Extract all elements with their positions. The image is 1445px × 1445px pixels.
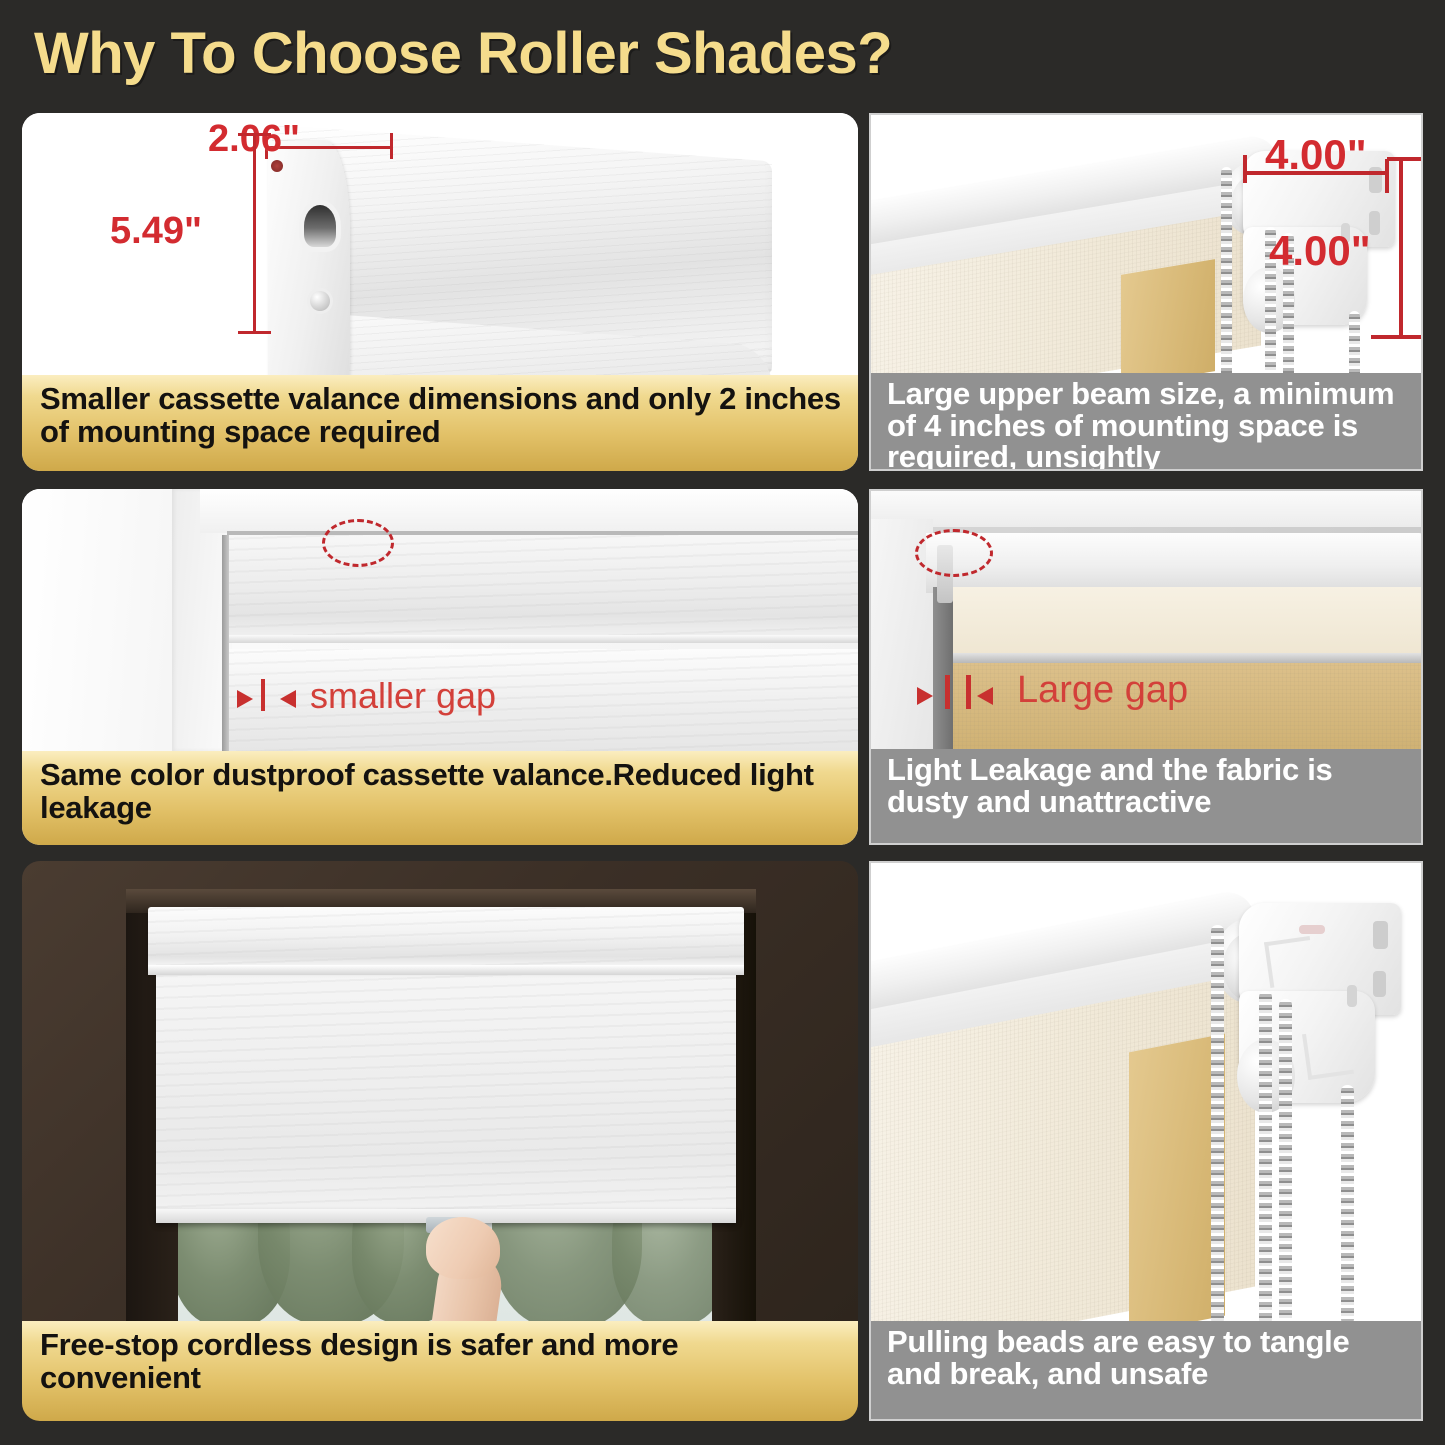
gap-marker [945,675,950,709]
width-dimension-tick-right [390,133,393,159]
panel-dustproof-cassette-valance[interactable]: smaller gap Same color dustproof cassett… [22,489,858,845]
height-dimension-tick-top [1387,157,1421,161]
height-dimension-line [1399,157,1403,337]
panel-light-leakage-dusty-fabric[interactable]: Large gap Light Leakage and the fabric i… [869,489,1423,845]
panel-free-stop-cordless-design[interactable]: Free-stop cordless design is safer and m… [22,861,858,1421]
pin-icon [271,160,283,172]
panel-6-image [871,863,1421,1325]
height-dimension-tick-bottom [238,331,271,334]
panel-pulling-beads-tangle[interactable]: Pulling beads are easy to tangle and bre… [869,861,1423,1421]
height-dimension-tick-bottom [1371,335,1421,339]
bead-chain [1349,311,1360,377]
panel-1-caption: Smaller cassette valance dimensions and … [22,375,858,471]
gap-marker [261,679,265,711]
panel-4-caption: Light Leakage and the fabric is dusty an… [871,749,1421,843]
width-dimension-tick-left [1243,155,1247,183]
bead-chain [1221,167,1232,377]
bead-chain[interactable] [1279,999,1292,1325]
bead-chain[interactable] [1211,925,1224,1325]
highlight-ellipse [322,519,394,567]
gap-arrow-left-icon [237,690,253,708]
height-dimension-label: 5.49" [110,210,202,253]
panel-5-caption: Free-stop cordless design is safer and m… [22,1321,858,1421]
panel-1-image: 2.06" 5.49" [22,113,858,375]
screw-icon [310,291,330,311]
gap-arrow-right-icon [977,687,993,705]
panel-2-caption-text: Large upper beam size, a minimum of 4 in… [887,378,1409,469]
panel-4-image: Large gap [871,491,1421,753]
bead-chain[interactable] [1341,1085,1354,1325]
panel-4-caption-text: Light Leakage and the fabric is dusty an… [887,754,1409,817]
gap-callout-label: smaller gap [310,675,496,717]
bracket-arrow-icon [1264,936,1316,988]
gap-arrow-right-icon [280,690,296,708]
panel-1-caption-text: Smaller cassette valance dimensions and … [40,383,846,449]
panel-2-image: 4.00" 4.00" [871,115,1421,377]
panel-6-caption-text: Pulling beads are easy to tangle and bre… [887,1326,1409,1389]
bead-chain[interactable] [1259,991,1272,1325]
width-dimension-tick-right [1385,159,1389,193]
gap-arrow-left-icon [917,687,933,705]
panel-3-image: smaller gap [22,489,858,751]
bracket-arrow-icon [1302,1028,1354,1080]
title-bar: Why To Choose Roller Shades? [0,0,1445,104]
cassette-slot-icon [304,205,336,247]
panel-5-image [22,861,858,1321]
gap-marker-2 [966,675,971,709]
panel-2-caption: Large upper beam size, a minimum of 4 in… [871,373,1421,469]
page-title: Why To Choose Roller Shades? [34,20,892,87]
gap-callout-label: Large gap [1017,669,1188,712]
height-dimension-line [253,133,256,334]
highlight-ellipse [915,529,993,577]
panel-3-caption-text: Same color dustproof cassette valance.Re… [40,759,846,825]
panel-5-caption-text: Free-stop cordless design is safer and m… [40,1329,846,1395]
panel-3-caption: Same color dustproof cassette valance.Re… [22,751,858,845]
panel-6-caption: Pulling beads are easy to tangle and bre… [871,1321,1421,1419]
panel-smaller-cassette-valance[interactable]: 2.06" 5.49" Smaller cassette valance dim… [22,113,858,471]
panel-large-upper-beam[interactable]: 4.00" 4.00" Large upper beam size, a min… [869,113,1423,471]
height-dimension-label: 4.00" [1269,227,1371,275]
width-dimension-label: 4.00" [1265,131,1367,179]
height-dimension-tick-top [238,133,271,136]
